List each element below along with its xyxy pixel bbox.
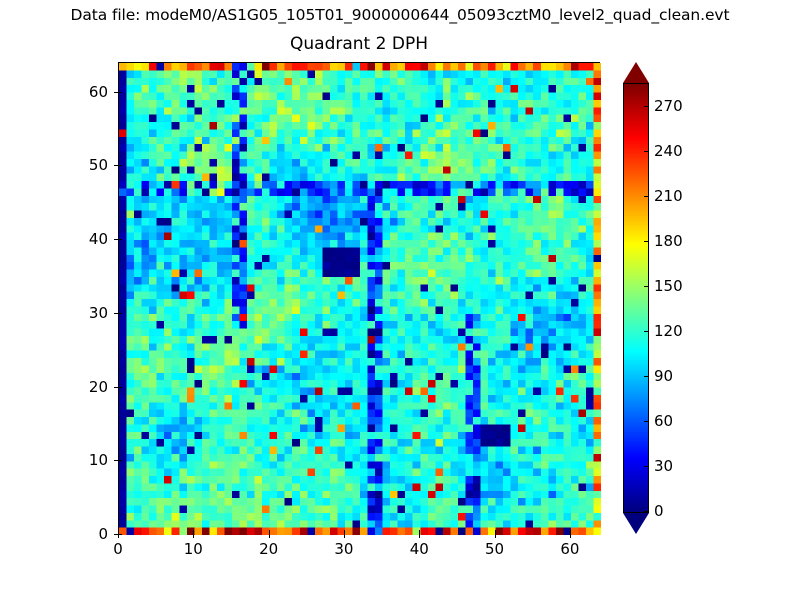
- colorbar-gradient[interactable]: [623, 83, 649, 513]
- y-tick-mark-inner: [118, 92, 122, 93]
- x-tick-label: 60: [540, 540, 600, 558]
- plot-title: Quadrant 2 DPH: [118, 34, 600, 54]
- x-tick-mark: [495, 534, 496, 538]
- colorbar-tick-mark: [644, 286, 649, 287]
- x-tick-label: 30: [314, 540, 374, 558]
- colorbar-tick-label: 90: [654, 367, 673, 385]
- colorbar-tick-label: 0: [654, 502, 664, 520]
- y-tick-mark-inner: [118, 460, 122, 461]
- colorbar-tick-label: 120: [654, 322, 683, 340]
- x-tick-mark-inner: [570, 530, 571, 534]
- y-tick-label: 0: [58, 525, 108, 543]
- colorbar-tick-label: 30: [654, 457, 673, 475]
- x-tick-label: 40: [389, 540, 449, 558]
- y-tick-label: 10: [58, 451, 108, 469]
- y-tick-mark-inner: [118, 313, 122, 314]
- colorbar-tick-label: 270: [654, 97, 683, 115]
- y-tick-label: 40: [58, 230, 108, 248]
- dph-heatmap-image[interactable]: [119, 63, 601, 535]
- x-tick-mark: [419, 534, 420, 538]
- x-tick-mark: [344, 534, 345, 538]
- colorbar-tick-mark: [644, 511, 649, 512]
- colorbar-tick-mark: [644, 466, 649, 467]
- colorbar-tick-label: 210: [654, 187, 683, 205]
- colorbar-tick-mark: [644, 331, 649, 332]
- x-tick-mark: [570, 534, 571, 538]
- x-tick-mark: [269, 534, 270, 538]
- figure-canvas: Data file: modeM0/AS1G05_105T01_90000006…: [0, 0, 800, 600]
- y-tick-mark-inner: [118, 534, 122, 535]
- colorbar[interactable]: [623, 62, 649, 534]
- colorbar-tick-label: 60: [654, 412, 673, 430]
- x-tick-label: 20: [239, 540, 299, 558]
- y-tick-label: 50: [58, 156, 108, 174]
- colorbar-tick-mark: [644, 421, 649, 422]
- x-tick-mark: [193, 534, 194, 538]
- colorbar-tick-mark: [644, 241, 649, 242]
- y-tick-mark-inner: [118, 165, 122, 166]
- heatmap-axes[interactable]: [118, 62, 600, 534]
- colorbar-tick-label: 150: [654, 277, 683, 295]
- y-tick-label: 20: [58, 378, 108, 396]
- x-tick-label: 50: [465, 540, 525, 558]
- colorbar-tick-mark: [644, 196, 649, 197]
- x-tick-mark-inner: [495, 530, 496, 534]
- colorbar-tick-mark: [644, 376, 649, 377]
- colorbar-tick-mark: [644, 151, 649, 152]
- x-tick-mark-inner: [269, 530, 270, 534]
- y-tick-mark-inner: [118, 387, 122, 388]
- colorbar-extend-min-arrow-icon: [623, 513, 649, 534]
- colorbar-tick-label: 180: [654, 232, 683, 250]
- colorbar-tick-mark: [644, 106, 649, 107]
- x-tick-mark-inner: [193, 530, 194, 534]
- y-tick-label: 60: [58, 83, 108, 101]
- x-tick-mark-inner: [419, 530, 420, 534]
- x-tick-mark-inner: [344, 530, 345, 534]
- y-tick-label: 30: [58, 304, 108, 322]
- colorbar-tick-label: 240: [654, 142, 683, 160]
- x-tick-label: 10: [163, 540, 223, 558]
- colorbar-extend-max-arrow-icon: [623, 62, 649, 83]
- data-file-suptitle: Data file: modeM0/AS1G05_105T01_90000006…: [0, 6, 800, 24]
- colorbar-gradient-image: [624, 84, 648, 512]
- y-tick-mark-inner: [118, 239, 122, 240]
